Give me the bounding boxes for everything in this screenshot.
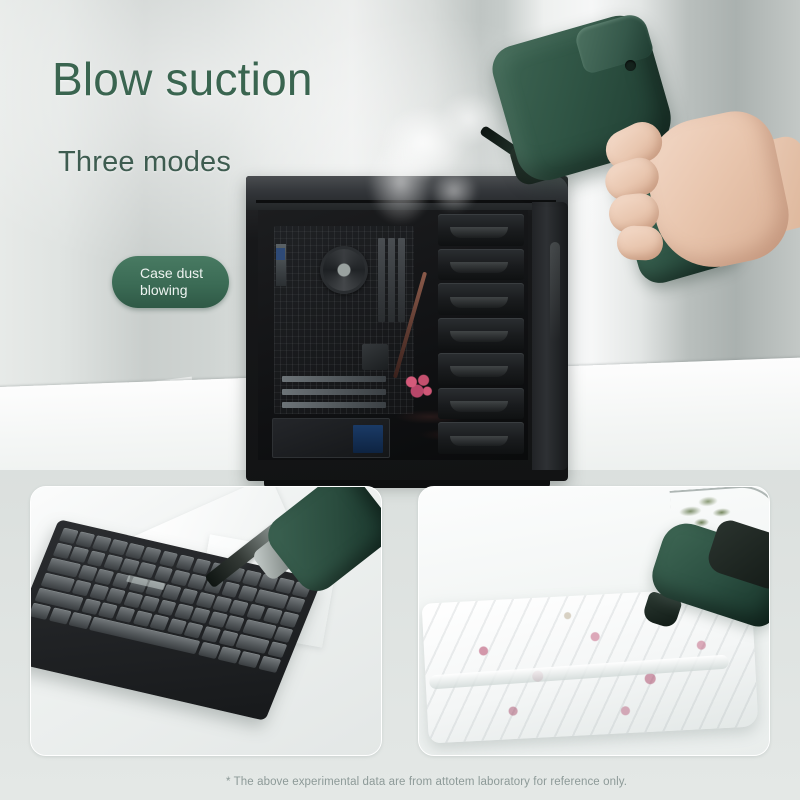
key: [280, 611, 300, 627]
handheld-blower-device: [455, 8, 785, 308]
key: [76, 531, 95, 547]
ram-slot: [378, 238, 385, 322]
key: [81, 598, 101, 614]
key: [176, 555, 195, 571]
power-supply-unit: [272, 418, 390, 458]
ram-slot: [388, 238, 395, 322]
page-title: Blow suction: [52, 52, 313, 106]
key: [154, 566, 174, 582]
key: [246, 604, 266, 620]
key: [92, 535, 111, 551]
pcie-slot: [282, 376, 386, 382]
key: [87, 550, 107, 566]
key-ctrl: [30, 603, 51, 620]
key: [213, 596, 233, 612]
key: [225, 615, 245, 631]
finger: [616, 225, 663, 261]
ram-slot: [398, 238, 405, 322]
key: [187, 574, 207, 590]
cable-pink-bundle: [400, 370, 438, 404]
key: [123, 592, 143, 608]
key: [59, 528, 78, 544]
key: [258, 656, 281, 673]
key: [286, 596, 306, 612]
key-fn: [218, 646, 241, 663]
key-ctrl-right: [238, 651, 261, 668]
key: [221, 581, 241, 597]
key: [103, 554, 123, 570]
key: [133, 610, 153, 626]
key: [267, 641, 287, 657]
key: [72, 580, 92, 596]
key: [150, 614, 170, 630]
key: [238, 585, 258, 601]
badge-case-dust-blowing: Case dust blowing: [112, 256, 229, 308]
key: [218, 630, 238, 646]
key: [53, 543, 73, 559]
key-alt-right: [198, 642, 221, 659]
key: [95, 569, 115, 585]
key: [109, 539, 128, 555]
key: [157, 600, 177, 616]
io-port-blue: [276, 248, 285, 260]
key: [142, 547, 161, 563]
key: [184, 622, 204, 638]
cpu-cooler-fan: [320, 246, 368, 294]
key: [137, 562, 157, 578]
key: [263, 608, 283, 624]
page-subtitle: Three modes: [58, 146, 231, 179]
drive-bay: [438, 353, 524, 385]
key: [162, 584, 182, 600]
key: [274, 626, 294, 642]
key: [159, 551, 178, 567]
psu-label: [353, 425, 383, 453]
key: [116, 606, 136, 622]
key: [78, 565, 98, 581]
key-win: [49, 607, 72, 624]
pcie-slot: [282, 389, 386, 395]
key: [174, 603, 194, 619]
key: [70, 547, 90, 563]
key: [167, 618, 187, 634]
panel-vacuum: Vacuum: [418, 486, 770, 756]
pcie-slot: [282, 402, 386, 408]
blower-vent-hole: [625, 60, 636, 71]
key: [191, 607, 211, 623]
key: [242, 570, 261, 586]
key: [126, 543, 145, 559]
chipset-heatsink: [362, 344, 388, 370]
key: [98, 602, 118, 618]
key: [229, 600, 249, 616]
key: [140, 596, 160, 612]
key: [275, 578, 294, 594]
key: [201, 626, 221, 642]
drive-bay: [438, 318, 524, 350]
key: [208, 611, 228, 627]
key-alt: [69, 612, 92, 629]
drive-bay: [438, 422, 524, 454]
key: [89, 584, 109, 600]
motherboard: [274, 226, 414, 414]
product-infographic: Blow suction Three modes Case dust blowi…: [0, 0, 800, 800]
key: [120, 558, 140, 574]
key: [196, 592, 216, 608]
drive-bay: [438, 388, 524, 420]
key: [171, 570, 191, 586]
key: [179, 588, 199, 604]
key: [106, 588, 126, 604]
panel-keyboard-dust-absorption: Keyboard dust absorption: [30, 486, 382, 756]
footnote-disclaimer: * The above experimental data are from a…: [226, 772, 646, 793]
